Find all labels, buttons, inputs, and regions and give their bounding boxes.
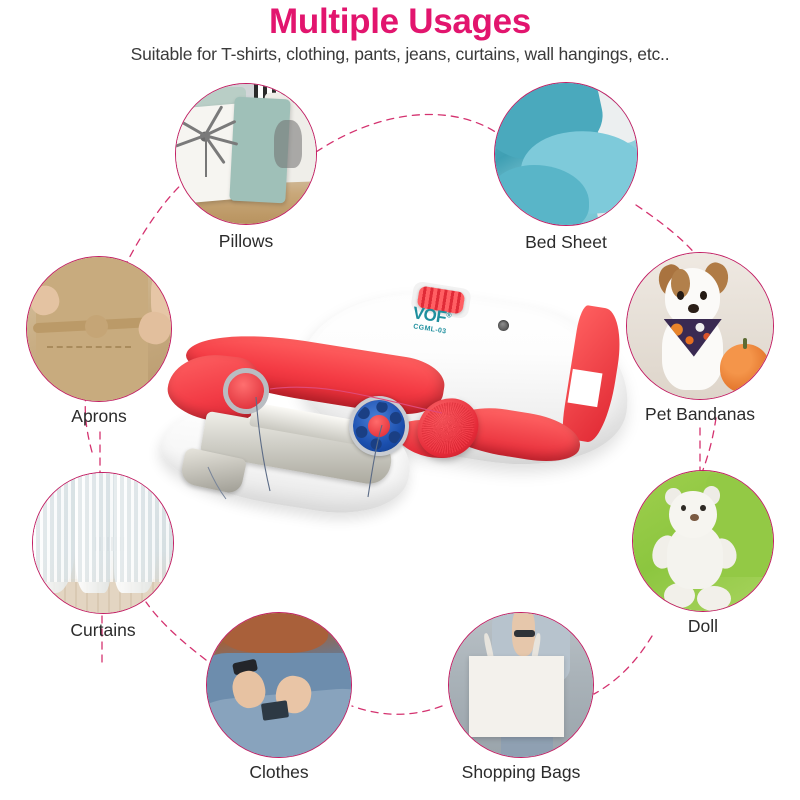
usage-item-clothes[interactable]: Clothes (206, 612, 352, 790)
usage-image-clothes (206, 612, 352, 758)
usage-label-pet-bandanas: Pet Bandanas (645, 404, 755, 425)
page-subtitle: Suitable for T-shirts, clothing, pants, … (0, 44, 800, 65)
usage-item-shopping-bags[interactable]: Shopping Bags (448, 612, 594, 790)
registered-mark: ® (446, 312, 452, 320)
shopping-bags-photo (449, 613, 593, 757)
usage-label-pillows: Pillows (219, 231, 273, 252)
product-thread-spool-knob (225, 370, 266, 411)
infographic-canvas: Multiple Usages Suitable for T-shirts, c… (0, 0, 800, 800)
clothes-photo (207, 613, 351, 757)
pillows-photo (176, 84, 316, 224)
connector-doll-shopping (594, 636, 652, 694)
usage-label-curtains: Curtains (70, 620, 135, 641)
usage-image-doll (632, 470, 774, 612)
connector-pillows-bedsheet (316, 114, 506, 152)
usage-item-doll[interactable]: Doll (632, 470, 774, 642)
usage-label-shopping-bags: Shopping Bags (462, 762, 581, 783)
product-image-handheld-sewing-machine: VOF® CGML-03 (150, 285, 650, 540)
usage-image-pillows (175, 83, 317, 225)
usage-label-clothes: Clothes (249, 762, 308, 783)
usage-label-aprons: Aprons (71, 406, 126, 427)
usage-label-doll: Doll (688, 616, 718, 637)
bed-sheet-photo (495, 83, 637, 225)
usage-image-bed-sheet (494, 82, 638, 226)
product-bobbin (349, 396, 408, 455)
usage-label-bed-sheet: Bed Sheet (525, 232, 607, 253)
usage-image-shopping-bags (448, 612, 594, 758)
usage-item-bed-sheet[interactable]: Bed Sheet (494, 82, 638, 258)
doll-photo (633, 471, 773, 611)
usage-item-pillows[interactable]: Pillows (175, 83, 317, 258)
product-rear-white-notch (568, 369, 603, 407)
connector-shopping-clothes (352, 706, 442, 714)
page-title: Multiple Usages (0, 2, 800, 42)
